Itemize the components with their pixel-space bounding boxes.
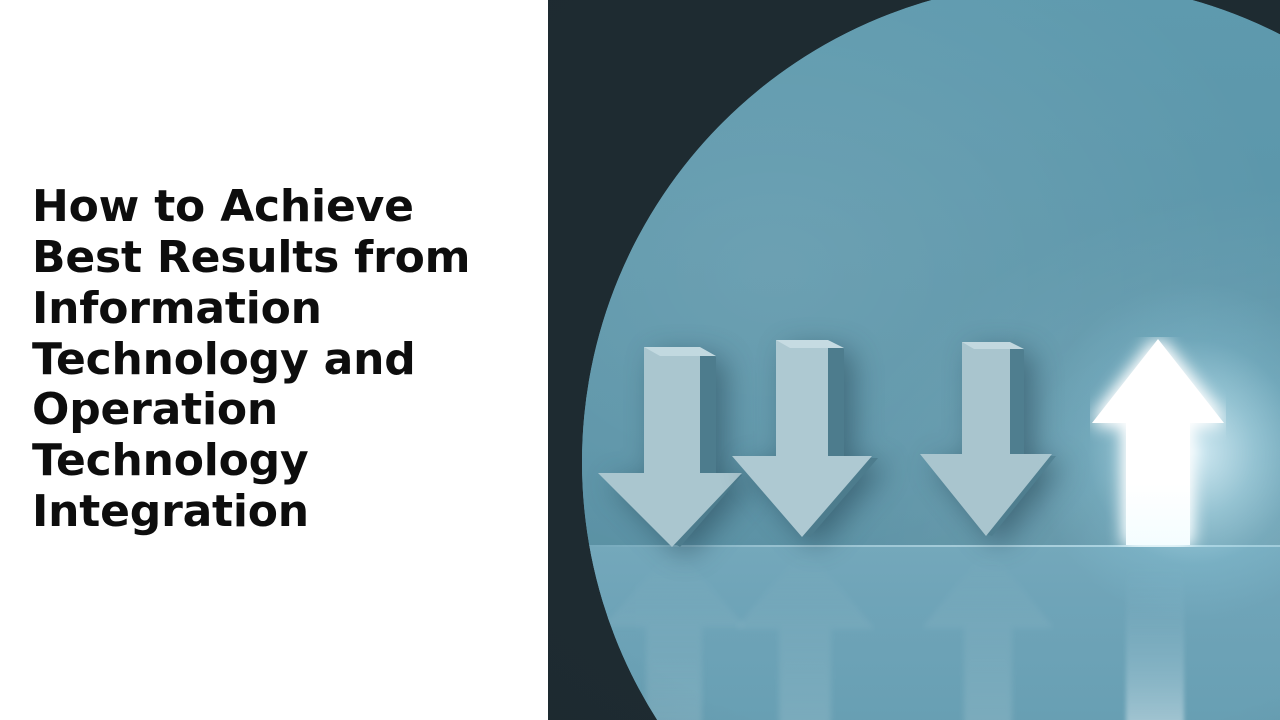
down-arrow-2-reflection (735, 545, 875, 720)
slide: How to Achieve Best Results from Informa… (0, 0, 1280, 720)
down-arrow-1 (592, 347, 752, 547)
down-arrow-1-reflection (594, 545, 746, 720)
down-arrow-3-reflection (922, 545, 1054, 720)
room-circle-shape (582, 0, 1280, 720)
up-arrow-reflection (1096, 547, 1216, 720)
down-arrow-3 (920, 342, 1062, 538)
page-title: How to Achieve Best Results from Informa… (0, 182, 484, 538)
up-arrow-glowing (1090, 337, 1226, 547)
title-pane: How to Achieve Best Results from Informa… (0, 0, 548, 720)
down-arrow-2 (732, 340, 882, 540)
hero-image (548, 0, 1280, 720)
